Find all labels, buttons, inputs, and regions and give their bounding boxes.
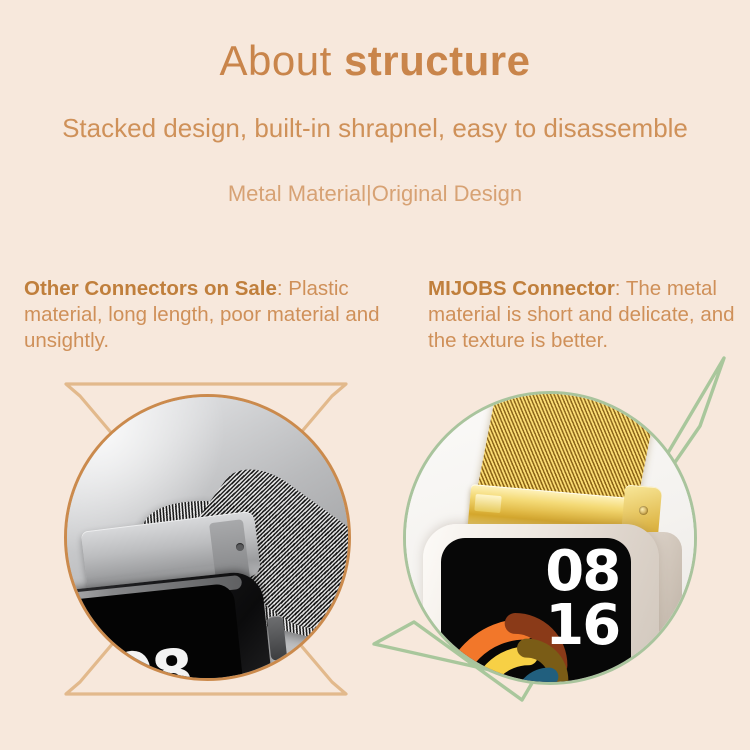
page-subtitle: Stacked design, built-in shrapnel, easy … [0,112,750,144]
right-watch-time: 08 16 [545,545,619,653]
right-copy-colon: : [615,277,626,300]
page-title-bold: structure [344,37,531,84]
page-tagline: Metal Material|Original Design [0,180,750,208]
left-copy-colon: : [277,277,288,300]
left-watch-time: 08 [110,642,193,681]
right-watch-minutes: 16 [545,599,619,653]
right-copy-lead: MIJOBS Connector [428,277,615,300]
connector-pin-hole [236,543,244,551]
left-product-photo[interactable]: 08 [64,394,351,681]
poster-stage: About structure Stacked design, built-in… [0,0,750,750]
right-watch-hours: 08 [545,545,619,599]
right-column-copy: MIJOBS Connector: The metal material is … [428,276,738,354]
right-photo-content: 08 16 [406,394,694,682]
gold-connector-notch [474,494,501,513]
page-title-light: About [220,37,344,84]
left-copy-lead: Other Connectors on Sale [24,277,277,300]
left-photo-content: 08 [67,397,348,678]
white-watch-screen: 08 16 [441,538,631,685]
right-product-photo[interactable]: 08 16 [403,391,697,685]
page-title: About structure [0,38,750,84]
left-column-copy: Other Connectors on Sale: Plastic materi… [24,276,384,354]
